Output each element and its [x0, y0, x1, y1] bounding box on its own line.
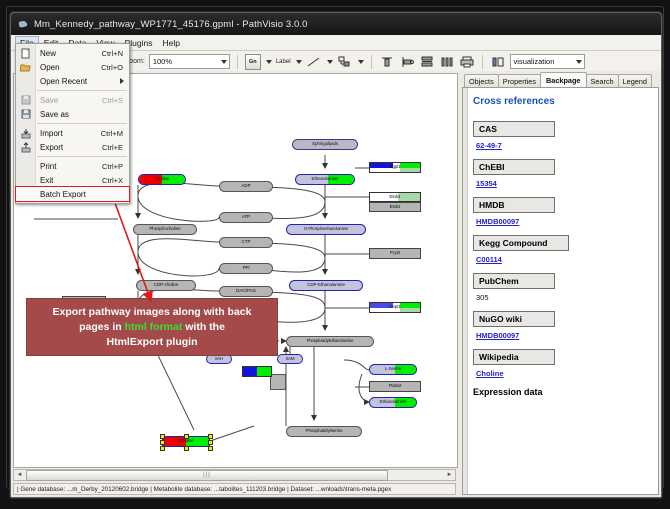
node-etnk1[interactable]: Etnk1: [369, 192, 421, 202]
menu-separator-2: [37, 123, 127, 124]
open-folder-icon: [19, 61, 32, 73]
interaction-dropdown-icon[interactable]: [358, 60, 364, 64]
line-icon[interactable]: [306, 54, 322, 69]
callout-line2a: pages in: [79, 321, 125, 333]
menu-item-label-6: Import: [40, 129, 63, 138]
menu-item-save-as[interactable]: Save as: [16, 107, 129, 121]
menu-item-accel-2: Ctrl+O: [101, 63, 123, 72]
side-panel: Objects Properties Backpage Search Legen…: [458, 71, 661, 497]
menu-item-batch-export[interactable]: Batch Export: [16, 187, 129, 201]
datanode-dropdown-icon[interactable]: [266, 60, 272, 64]
node-phosphatidylethanolamine[interactable]: Phosphatidylethanolamine: [286, 336, 374, 347]
node-sam[interactable]: SAM: [277, 354, 303, 364]
menu-item-accel-6: Ctrl+M: [101, 129, 123, 138]
xref-source-label-3: HMDB: [473, 197, 555, 213]
pathvisio-window: Mm_Kennedy_pathway_WP1771_45176.gpml - P…: [10, 12, 662, 498]
submenu-arrow-icon: [120, 78, 124, 84]
scroll-right-icon[interactable]: ►: [444, 470, 455, 480]
align-left-icon[interactable]: [399, 54, 415, 69]
side-panel-tabs: Objects Properties Backpage Search Legen…: [458, 73, 659, 87]
menu-item-label-3: Open Recent: [40, 77, 87, 86]
menu-item-label-7: Export: [40, 143, 63, 152]
chevron-down-icon: [221, 60, 227, 64]
node-ethanolamine-2[interactable]: Ethanolamine: [369, 397, 417, 408]
menu-item-label-5: Save as: [40, 110, 69, 119]
node-o-phosphoethanolamine[interactable]: O-Phosphoethanolamine: [286, 224, 366, 235]
xref-source-label: CAS: [473, 121, 555, 137]
node-ctp[interactable]: CTP: [219, 237, 273, 248]
distribute-icon[interactable]: [439, 54, 455, 69]
screenshot-root: Mm_Kennedy_pathway_WP1771_45176.gpml - P…: [0, 0, 670, 509]
toolbar-separator-3: [482, 55, 483, 69]
xref-link-kegg[interactable]: C00114: [476, 255, 648, 264]
menu-item-accel-8: Ctrl+P: [102, 162, 123, 171]
callout-highlight: html format: [125, 321, 183, 333]
menu-item-import[interactable]: Import Ctrl+M: [16, 126, 129, 140]
menu-item-save[interactable]: Save Ctrl+S: [16, 93, 129, 107]
menu-item-accel-9: Ctrl+X: [102, 176, 123, 185]
status-bar: | Gene database: ...m_Derby_20120602.bri…: [13, 483, 456, 495]
node-cept1[interactable]: Cept1: [369, 302, 421, 313]
node-ethanolamine[interactable]: Ethanolamine: [295, 174, 355, 185]
callout-line2b: with the: [182, 321, 225, 333]
node-choline[interactable]: Choline: [138, 174, 186, 185]
tab-legend[interactable]: Legend: [618, 74, 652, 87]
node-phosphatidylserine[interactable]: Phosphatidylserine: [286, 426, 362, 437]
save-as-icon: [19, 108, 32, 120]
window-title: Mm_Kennedy_pathway_WP1771_45176.gpml - P…: [34, 19, 308, 30]
xref-link-chebi[interactable]: 15354: [476, 179, 648, 188]
visualization-icon[interactable]: [490, 54, 506, 69]
align-top-icon[interactable]: [379, 54, 395, 69]
menu-item-open[interactable]: Open Ctrl+O: [16, 60, 129, 74]
datanode-icon[interactable]: Gn: [245, 54, 261, 70]
import-icon: [19, 127, 32, 139]
print-icon[interactable]: [459, 54, 475, 69]
node-pcyt2[interactable]: Pcyt2: [369, 248, 421, 259]
node-phosphocholine[interactable]: Phosphocholine: [133, 224, 197, 235]
xref-chebi: ChEBI 15354: [473, 159, 648, 188]
xref-cas: CAS 62-49-7: [473, 121, 648, 150]
menu-item-exit[interactable]: Exit Ctrl+X: [16, 173, 129, 187]
node-ptdss2[interactable]: Ptdss2: [369, 381, 421, 392]
node-l-serine[interactable]: L-Serine: [369, 364, 417, 375]
zoom-combo[interactable]: 100%: [149, 54, 230, 69]
interaction-icon[interactable]: [337, 54, 353, 69]
xref-wikipedia: Wikipedia Choline: [473, 349, 648, 378]
menu-item-accel-4: Ctrl+S: [102, 96, 123, 105]
menu-item-export[interactable]: Export Ctrl+E: [16, 140, 129, 154]
pathway-process-node[interactable]: [270, 374, 286, 390]
node-cdp-ethanolamine[interactable]: CDP-Ethanolamine: [289, 280, 363, 291]
toolbar-separator: [237, 55, 238, 69]
canvas-hscrollbar[interactable]: ◄ ||| ►: [13, 469, 456, 481]
callout-line1: Export pathway images along with back: [53, 306, 252, 318]
line-dropdown-icon[interactable]: [327, 60, 333, 64]
menu-item-label-10: Batch Export: [40, 190, 86, 199]
tab-properties[interactable]: Properties: [498, 74, 541, 87]
stack-icon[interactable]: [419, 54, 435, 69]
status-text: | Gene database: ...m_Derby_20120602.bri…: [17, 486, 391, 493]
panel-scroll-strip[interactable]: [463, 88, 468, 494]
annotation-callout: Export pathway images along with back pa…: [26, 298, 278, 356]
expr-green-chip: [257, 367, 271, 376]
title-bar: Mm_Kennedy_pathway_WP1771_45176.gpml - P…: [11, 13, 661, 35]
menu-separator-3: [37, 156, 127, 157]
node-ppi[interactable]: PPi: [219, 263, 273, 274]
tab-objects[interactable]: Objects: [464, 74, 499, 87]
xref-link-cas[interactable]: 62-49-7: [476, 141, 648, 150]
node-cdp-choline[interactable]: CDP-choline: [136, 280, 196, 291]
xref-source-label-4: Kegg Compound: [473, 235, 569, 251]
node-dag-pag[interactable]: DAG/PAG: [219, 286, 273, 297]
label-dropdown-icon[interactable]: [296, 60, 302, 64]
backpage-content: Cross references CAS 62-49-7 ChEBI 15354…: [463, 88, 658, 405]
xref-value-pubchem: 305: [476, 293, 648, 302]
new-document-icon: [19, 47, 32, 59]
menu-item-accel: Ctrl+N: [102, 49, 123, 58]
chevron-down-icon-2: [576, 60, 582, 64]
node-sphingolipids[interactable]: Sphingolipids: [292, 139, 358, 150]
expr-lightgreen-block: [400, 168, 420, 173]
file-menu-popup: New Ctrl+N Open Ctrl+O Open Recent Save: [15, 43, 130, 204]
pathvisio-app-icon: [17, 18, 29, 30]
tab-search[interactable]: Search: [586, 74, 619, 87]
scroll-left-icon[interactable]: ◄: [14, 470, 25, 480]
menu-item-open-recent[interactable]: Open Recent: [16, 74, 129, 88]
zoom-value: 100%: [153, 57, 172, 66]
menu-help[interactable]: Help: [158, 36, 185, 50]
node-adp[interactable]: ADP: [219, 181, 273, 192]
cross-references-heading: Cross references: [473, 96, 648, 107]
menu-item-label-9: Exit: [40, 176, 53, 185]
visualization-combo[interactable]: visualization: [510, 54, 585, 69]
node-expression-chip[interactable]: [242, 366, 272, 377]
label-icon[interactable]: Label: [276, 59, 291, 65]
expression-data-heading: Expression data: [473, 387, 648, 397]
node-choline-selected[interactable]: Choline: [162, 436, 210, 447]
menu-item-print[interactable]: Print Ctrl+P: [16, 159, 129, 173]
menu-separator-1: [37, 90, 127, 91]
menu-item-label: New: [40, 49, 56, 58]
xref-link-nugo[interactable]: HMDB00097: [476, 331, 648, 340]
xref-kegg: Kegg Compound C00114: [473, 235, 648, 264]
xref-source-label-7: Wikipedia: [473, 349, 555, 365]
menu-item-label-8: Print: [40, 162, 56, 171]
xref-nugo: NuGO wiki HMDB00097: [473, 311, 648, 340]
xref-link-wikipedia[interactable]: Choline: [476, 369, 648, 378]
tab-backpage[interactable]: Backpage: [540, 72, 586, 87]
callout-line3: HtmlExport plugin: [107, 336, 198, 348]
xref-link-hmdb[interactable]: HMDB00097: [476, 217, 648, 226]
menu-item-label-2: Open: [40, 63, 60, 72]
xref-pubchem: PubChem 305: [473, 273, 648, 302]
visualization-value: visualization: [514, 57, 555, 66]
hscroll-thumb[interactable]: |||: [26, 470, 388, 481]
xref-source-label-5: PubChem: [473, 273, 555, 289]
node-atp[interactable]: ATP: [219, 212, 273, 223]
toolbar-separator-2: [371, 55, 372, 69]
menu-item-new[interactable]: New Ctrl+N: [16, 46, 129, 60]
save-disk-icon: [19, 94, 32, 106]
expr-lightgreen-block-3: [400, 308, 420, 313]
node-sgpl1[interactable]: Sgpl1: [369, 162, 421, 173]
xref-source-label-2: ChEBI: [473, 159, 555, 175]
xref-hmdb: HMDB HMDB00097: [473, 197, 648, 226]
menu-item-accel-7: Ctrl+E: [102, 143, 123, 152]
export-icon: [19, 141, 32, 153]
backpage-panel: Cross references CAS 62-49-7 ChEBI 15354…: [462, 87, 659, 495]
node-etnk2[interactable]: Etnk2: [369, 202, 421, 212]
xref-source-label-6: NuGO wiki: [473, 311, 555, 327]
expr-blue-chip: [243, 367, 257, 376]
menu-item-label-4: Save: [40, 96, 58, 105]
